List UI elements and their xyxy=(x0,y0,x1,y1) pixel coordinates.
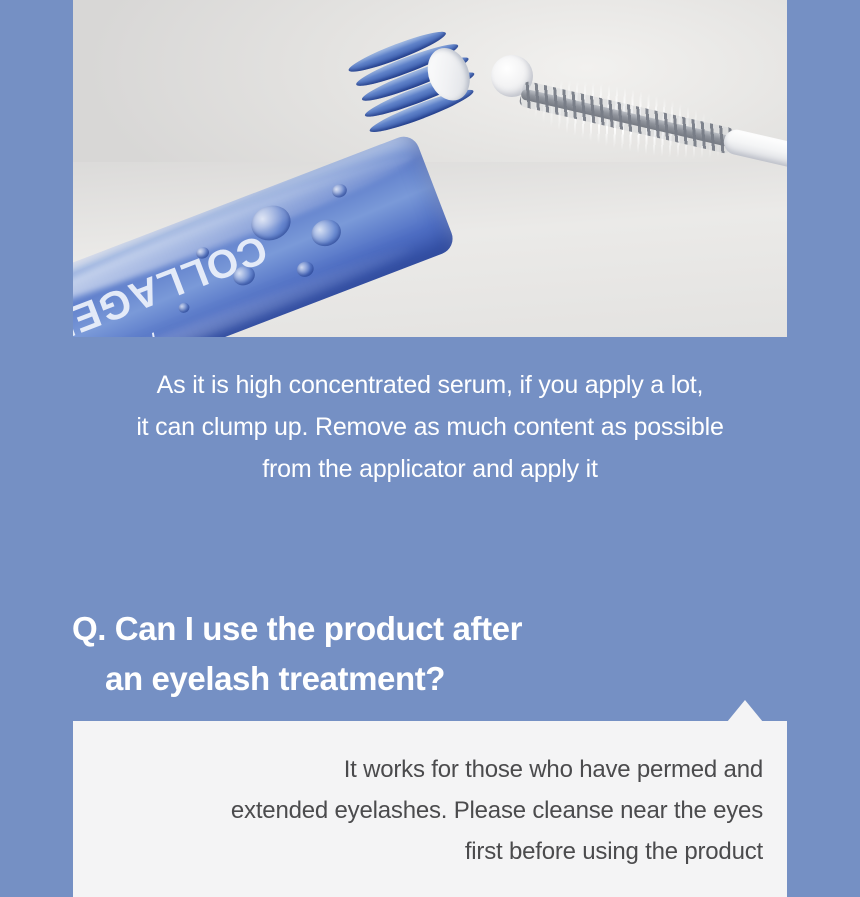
caption-line: from the applicator and apply it xyxy=(0,448,860,490)
faq-answer: It works for those who have permed and e… xyxy=(163,749,763,872)
faq-answer-line: first before using the product xyxy=(163,831,763,872)
product-photo: Form stay COLLAGEN xyxy=(73,0,787,337)
product-detail-page: Form stay COLLAGEN As it is high concent… xyxy=(0,0,860,897)
faq-question: Q. Can I use the product after an eyelas… xyxy=(72,604,772,704)
faq-answer-line: extended eyelashes. Please cleanse near … xyxy=(163,790,763,831)
faq-question-line: Q. Can I use the product after xyxy=(72,604,772,654)
usage-caption: As it is high concentrated serum, if you… xyxy=(0,364,860,490)
faq-answer-panel: It works for those who have permed and e… xyxy=(73,721,787,897)
faq-question-line: an eyelash treatment? xyxy=(72,654,772,704)
caption-line: As it is high concentrated serum, if you… xyxy=(0,364,860,406)
answer-pointer-triangle xyxy=(727,700,763,722)
faq-answer-line: It works for those who have permed and xyxy=(163,749,763,790)
caption-line: it can clump up. Remove as much content … xyxy=(0,406,860,448)
wand-handle xyxy=(721,127,787,180)
